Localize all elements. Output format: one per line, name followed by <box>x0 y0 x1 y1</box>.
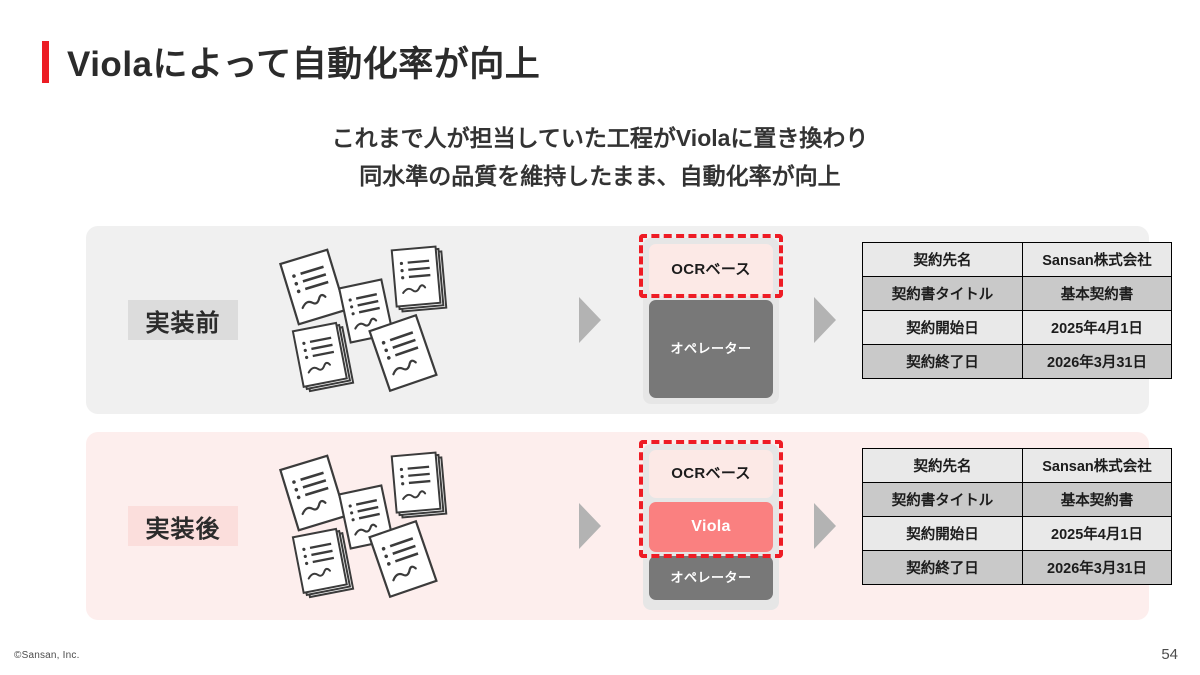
table-row: 契約開始日 2025年4月1日 <box>863 311 1172 345</box>
table-cell-key: 契約書タイトル <box>863 277 1023 311</box>
process-stack-before: OCRベース オペレーター <box>643 238 779 404</box>
process-box-viola[interactable]: Viola <box>649 502 773 552</box>
table-row: 契約終了日 2026年3月31日 <box>863 551 1172 585</box>
table-row: 契約先名 Sansan株式会社 <box>863 449 1172 483</box>
title-accent-bar <box>42 41 49 83</box>
arrow-right-icon <box>579 503 601 549</box>
contract-document-stack-icon <box>390 244 448 314</box>
footer-page-number: 54 <box>1161 646 1178 663</box>
stage-label-after: 実装後 <box>128 506 238 546</box>
process-box-operator[interactable]: オペレーター <box>649 556 773 600</box>
subtitle: これまで人が担当していた工程がViolaに置き換わり 同水準の品質を維持したまま… <box>0 120 1200 196</box>
table-cell-value: 2026年3月31日 <box>1023 551 1172 585</box>
contract-document-stack-icon <box>390 450 448 520</box>
title-text: Violaによって自動化率が向上 <box>67 36 540 87</box>
table-row: 契約終了日 2026年3月31日 <box>863 345 1172 379</box>
table-cell-key: 契約終了日 <box>863 551 1023 585</box>
footer-copyright: ©Sansan, Inc. <box>14 650 80 661</box>
table-cell-value: Sansan株式会社 <box>1023 449 1172 483</box>
subtitle-line-2: 同水準の品質を維持したまま、自動化率が向上 <box>0 158 1200 196</box>
table-row: 契約書タイトル 基本契約書 <box>863 277 1172 311</box>
subtitle-line-1: これまで人が担当していた工程がViolaに置き換わり <box>0 120 1200 158</box>
table-cell-value: 基本契約書 <box>1023 277 1172 311</box>
arrow-right-icon <box>814 297 836 343</box>
table-cell-key: 契約先名 <box>863 449 1023 483</box>
table-cell-key: 契約書タイトル <box>863 483 1023 517</box>
table-cell-key: 契約開始日 <box>863 311 1023 345</box>
contract-documents-icon-group <box>281 442 511 610</box>
table-cell-value: 2025年4月1日 <box>1023 517 1172 551</box>
table-row: 契約開始日 2025年4月1日 <box>863 517 1172 551</box>
page-title: Violaによって自動化率が向上 <box>42 36 540 87</box>
table-cell-value: 2025年4月1日 <box>1023 311 1172 345</box>
process-stack-after: OCRベース Viola オペレーター <box>643 444 779 610</box>
contract-documents-icon-group <box>281 236 511 404</box>
table-row: 契約書タイトル 基本契約書 <box>863 483 1172 517</box>
table-cell-value: Sansan株式会社 <box>1023 243 1172 277</box>
table-cell-key: 契約先名 <box>863 243 1023 277</box>
panel-before-implementation: 実装前 <box>86 226 1149 414</box>
contract-table-after: 契約先名 Sansan株式会社 契約書タイトル 基本契約書 契約開始日 2025… <box>862 448 1172 585</box>
stage-label-before: 実装前 <box>128 300 238 340</box>
table-row: 契約先名 Sansan株式会社 <box>863 243 1172 277</box>
panel-after-implementation: 実装後 <box>86 432 1149 620</box>
arrow-right-icon <box>814 503 836 549</box>
process-box-operator[interactable]: オペレーター <box>649 300 773 398</box>
table-cell-value: 基本契約書 <box>1023 483 1172 517</box>
contract-document-stack-icon <box>291 526 355 601</box>
table-cell-value: 2026年3月31日 <box>1023 345 1172 379</box>
table-cell-key: 契約開始日 <box>863 517 1023 551</box>
process-box-ocr-base[interactable]: OCRベース <box>649 450 773 498</box>
contract-document-stack-icon <box>291 320 355 395</box>
process-box-ocr-base[interactable]: OCRベース <box>649 244 773 296</box>
contract-table-before: 契約先名 Sansan株式会社 契約書タイトル 基本契約書 契約開始日 2025… <box>862 242 1172 379</box>
arrow-right-icon <box>579 297 601 343</box>
table-cell-key: 契約終了日 <box>863 345 1023 379</box>
